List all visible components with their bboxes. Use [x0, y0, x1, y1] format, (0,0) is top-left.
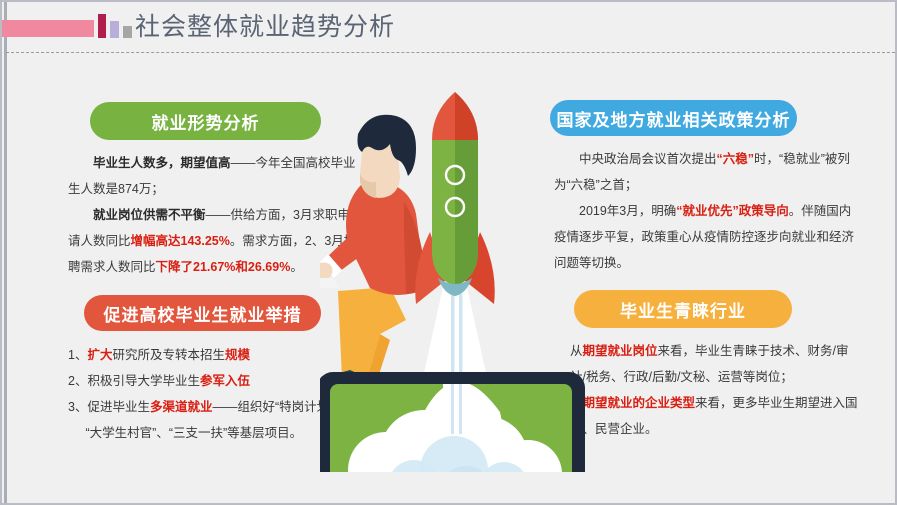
page-title: 社会整体就业趋势分析 [135, 8, 395, 46]
text-run: 3、促进毕业生 [68, 400, 150, 414]
text-run: 2、积极引导大学毕业生 [68, 374, 200, 388]
exhaust-trail [422, 287, 488, 382]
text-run: 期望就业岗位 [583, 344, 658, 358]
rocket-launch-illustration [320, 82, 590, 472]
text-run: 。 [290, 260, 303, 274]
text-run: 2019年3月，明确 [579, 204, 676, 218]
text-run: 期望就业的企业类型 [583, 396, 696, 410]
text-run: 中央政治局会议首次提出 [579, 152, 717, 166]
text-run: 下降了21.67%和26.69% [156, 260, 291, 274]
slide-header: 社会整体就业趋势分析 [2, 2, 897, 54]
text-run: 研究所及专转本招生 [112, 348, 225, 362]
paragraph: 从期望就业的企业类型来看，更多毕业生期望进入国有、民营企业。 [570, 390, 858, 442]
gray-bar-icon [123, 26, 132, 38]
pink-bar-icon [2, 20, 94, 37]
text-run: 扩大 [87, 348, 112, 362]
slide-left-edge-accent [4, 2, 7, 505]
rocket [415, 92, 494, 304]
text-run: “六稳” [717, 152, 755, 166]
text-run: “就业优先”政策导向 [676, 204, 789, 218]
header-divider [6, 52, 895, 53]
text-run: 参军入伍 [200, 374, 250, 388]
body-text-favored-industries: 从期望就业岗位来看，毕业生青睐于技术、财务/审计/税务、行政/后勤/文秘、运营等… [570, 338, 858, 442]
crimson-bar-icon [98, 14, 106, 38]
slide-root: 社会整体就业趋势分析 就业形势分析 促进高校毕业生就业举措 国家及地方就业相关政… [0, 0, 897, 505]
text-run: 多渠道就业 [150, 400, 213, 414]
paragraph: 毕业生人数多，期望值高——今年全国高校毕业生人数是874万； [68, 150, 358, 202]
paragraph: 2019年3月，明确“就业优先”政策导向。伴随国内疫情逐步平复，政策重心从疫情防… [554, 198, 854, 276]
text-run: 规模 [225, 348, 250, 362]
section-heading-employment-situation[interactable]: 就业形势分析 [90, 102, 321, 140]
body-text-employment-situation: 毕业生人数多，期望值高——今年全国高校毕业生人数是874万；就业岗位供需不平衡—… [68, 150, 358, 280]
paragraph: 从期望就业岗位来看，毕业生青睐于技术、财务/审计/税务、行政/后勤/文秘、运营等… [570, 338, 858, 390]
section-heading-promote-employment[interactable]: 促进高校毕业生就业举措 [84, 295, 321, 331]
paragraph: 就业岗位供需不平衡——供给方面，3月求职申请人数同比增幅高达143.25%。需求… [68, 202, 358, 280]
person-sitting [320, 115, 426, 392]
text-run: 1、 [68, 348, 87, 362]
paragraph: 中央政治局会议首次提出“六稳”时，“稳就业”被列为“六稳”之首； [554, 146, 854, 198]
text-run: “大学生村官”、“三支一扶”等基层项目。 [86, 426, 303, 440]
text-run: 增幅高达143.25% [131, 234, 230, 248]
lavender-bar-icon [110, 21, 119, 38]
computer-monitor [320, 372, 585, 472]
text-run: 就业岗位供需不平衡 [93, 208, 206, 222]
section-heading-favored-industries[interactable]: 毕业生青睐行业 [574, 290, 792, 328]
text-run: 毕业生人数多，期望值高 [93, 156, 231, 170]
bar-chart-icon [98, 14, 132, 38]
body-text-policy-analysis: 中央政治局会议首次提出“六稳”时，“稳就业”被列为“六稳”之首；2019年3月，… [554, 146, 854, 276]
